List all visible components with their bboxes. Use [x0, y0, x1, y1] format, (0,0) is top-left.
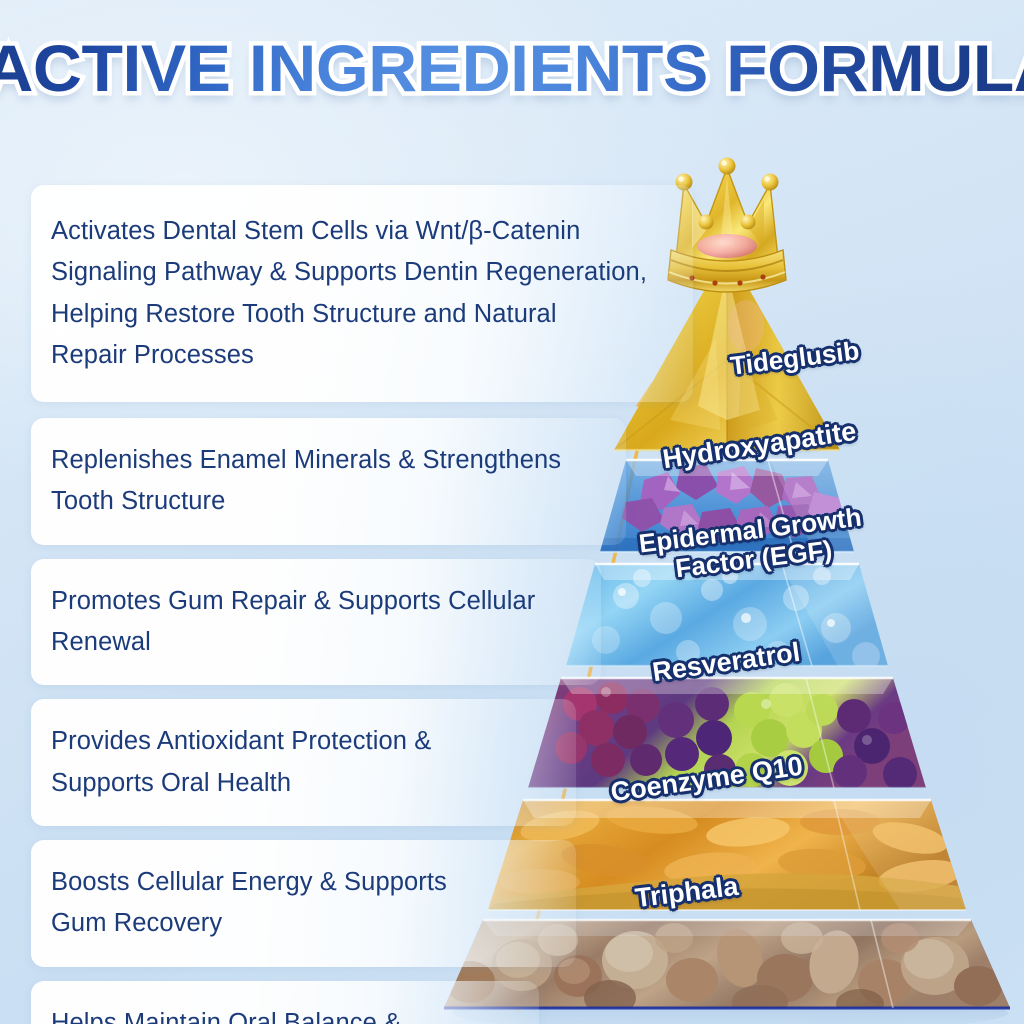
benefit-text: Replenishes Enamel Minerals & Strengthen…: [51, 440, 600, 523]
benefit-card-coq10[interactable]: Boosts Cellular Energy & Supports Gum Re…: [31, 840, 576, 967]
page-title-text: ACTIVE INGREDIENTS FORMULA: [0, 34, 1024, 103]
benefit-text: Activates Dental Stem Cells via Wnt/β-Ca…: [51, 211, 667, 376]
benefit-card-list: Activates Dental Stem Cells via Wnt/β-Ca…: [31, 185, 693, 1024]
benefit-card-egf[interactable]: Promotes Gum Repair & Supports Cellular …: [31, 559, 601, 686]
benefit-text: Helps Maintain Oral Balance & Supports A…: [51, 1003, 513, 1024]
page-title: ACTIVE INGREDIENTS FORMULA ACTIVE INGRED…: [0, 34, 1024, 103]
benefit-text: Boosts Cellular Energy & Supports Gum Re…: [51, 862, 550, 945]
benefit-text: Promotes Gum Repair & Supports Cellular …: [51, 581, 575, 664]
infographic-canvas: ACTIVE INGREDIENTS FORMULA ACTIVE INGRED…: [0, 0, 1024, 1024]
benefit-card-triphala[interactable]: Helps Maintain Oral Balance & Supports A…: [31, 981, 539, 1024]
benefit-text: Provides Antioxidant Protection & Suppor…: [51, 721, 550, 804]
benefit-card-hydroxyapatite[interactable]: Replenishes Enamel Minerals & Strengthen…: [31, 418, 626, 545]
benefit-card-tideglusib[interactable]: Activates Dental Stem Cells via Wnt/β-Ca…: [31, 185, 693, 402]
benefit-card-resveratrol[interactable]: Provides Antioxidant Protection & Suppor…: [31, 699, 576, 826]
